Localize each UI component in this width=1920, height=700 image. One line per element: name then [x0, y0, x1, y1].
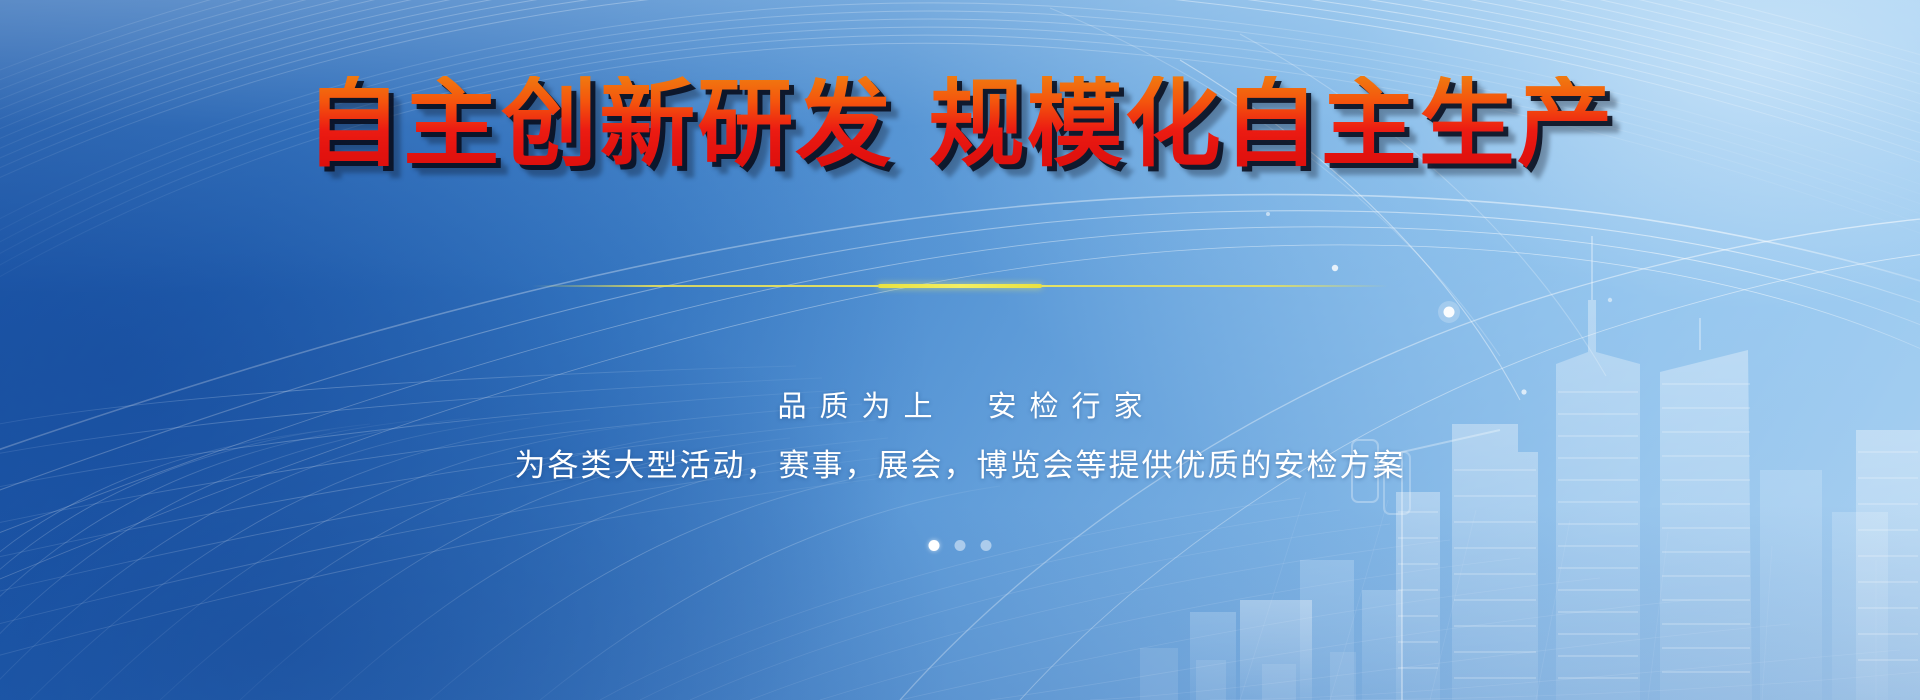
banner-subtitle-secondary: 为各类大型活动，赛事，展会，博览会等提供优质的安检方案 — [0, 440, 1920, 485]
carousel-dot-2[interactable] — [955, 540, 966, 551]
carousel-indicators — [929, 540, 992, 551]
carousel-dot-1[interactable] — [929, 540, 940, 551]
carousel-dot-3[interactable] — [981, 540, 992, 551]
divider-highlight — [878, 284, 1042, 288]
divider — [532, 284, 1388, 288]
banner-content: 自主创新研发 规模化自主生产 品质为上 安检行家 为各类大型活动，赛事，展会，博… — [0, 0, 1920, 700]
banner-headline: 自主创新研发 规模化自主生产 — [0, 76, 1920, 172]
hero-banner: 自主创新研发 规模化自主生产 品质为上 安检行家 为各类大型活动，赛事，展会，博… — [0, 0, 1920, 700]
banner-subtitle-primary: 品质为上 安检行家 — [0, 383, 1920, 425]
